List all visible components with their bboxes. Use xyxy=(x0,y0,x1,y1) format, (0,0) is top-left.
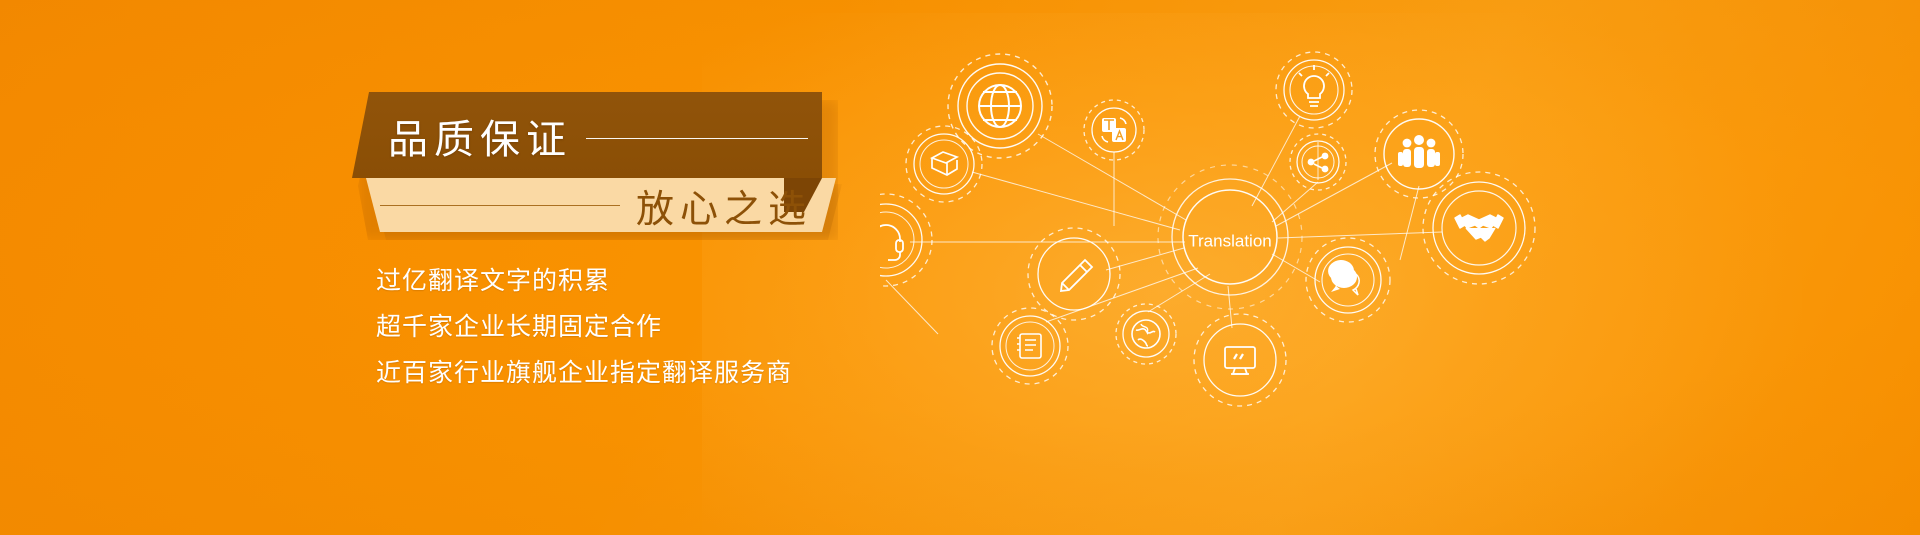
pencil-icon xyxy=(1061,260,1092,291)
book-ring-inner xyxy=(920,140,968,188)
node-chat xyxy=(1306,238,1390,322)
notebook-ring-dashed xyxy=(992,308,1068,384)
center-label: Translation xyxy=(1188,231,1271,250)
node-lightbulb xyxy=(1276,52,1352,128)
notebook-ring-inner xyxy=(1006,322,1054,370)
node-notebook xyxy=(992,308,1068,384)
selling-point-2: 超千家企业长期固定合作 xyxy=(376,304,896,350)
monitor-ring-outer xyxy=(1204,324,1276,396)
node-team xyxy=(1375,110,1463,198)
translation-network-graphic: Translation xyxy=(880,30,1620,510)
earth-ring-outer xyxy=(1123,311,1169,357)
selling-point-1: 过亿翻译文字的积累 xyxy=(376,258,896,304)
notebook-ring-outer xyxy=(1000,316,1060,376)
ribbon-title-rule xyxy=(586,138,808,139)
book-ring-dashed xyxy=(906,126,982,202)
node-earth xyxy=(1116,304,1176,364)
headset-icon xyxy=(880,225,903,260)
node-book xyxy=(906,126,982,202)
notebook-icon xyxy=(1017,334,1041,358)
ribbon-subtitle-rule xyxy=(380,205,620,206)
globe-icon xyxy=(979,85,1021,127)
book-ring-outer xyxy=(914,134,974,194)
monitor-ring-dashed xyxy=(1194,314,1286,406)
node-globe xyxy=(948,54,1052,158)
banner-root: Translation xyxy=(0,0,1920,535)
ribbon-subtitle: 放心之选 xyxy=(636,178,820,233)
lightbulb-icon xyxy=(1299,65,1329,106)
node-monitor xyxy=(1194,314,1286,406)
ribbon-title-row: 品质保证 xyxy=(388,96,808,176)
ribbon-title: 品质保证 xyxy=(388,107,572,165)
node-handshake xyxy=(1423,172,1535,284)
translate-icon xyxy=(1102,118,1126,142)
quality-ribbon: 品质保证 放心之选 xyxy=(352,92,832,232)
pencil-ring-outer xyxy=(1038,238,1110,310)
node-center-translation: Translation xyxy=(1158,165,1302,309)
ribbon-subtitle-row: 放心之选 xyxy=(380,178,820,232)
network-svg: Translation xyxy=(880,30,1620,510)
speech-bubble-icon xyxy=(1328,260,1359,295)
selling-point-3: 近百家行业旗舰企业指定翻译服务商 xyxy=(376,350,896,396)
bulb-ring-dashed xyxy=(1276,52,1352,128)
handshake-icon xyxy=(1455,215,1503,241)
people-icon xyxy=(1398,135,1440,168)
earth-ring-dashed xyxy=(1116,304,1176,364)
node-translate xyxy=(1084,100,1144,160)
monitor-icon xyxy=(1225,347,1255,374)
earth-icon xyxy=(1132,320,1160,348)
book-icon xyxy=(932,152,957,175)
selling-points-list: 过亿翻译文字的积累 超千家企业长期固定合作 近百家行业旗舰企业指定翻译服务商 xyxy=(376,258,896,396)
